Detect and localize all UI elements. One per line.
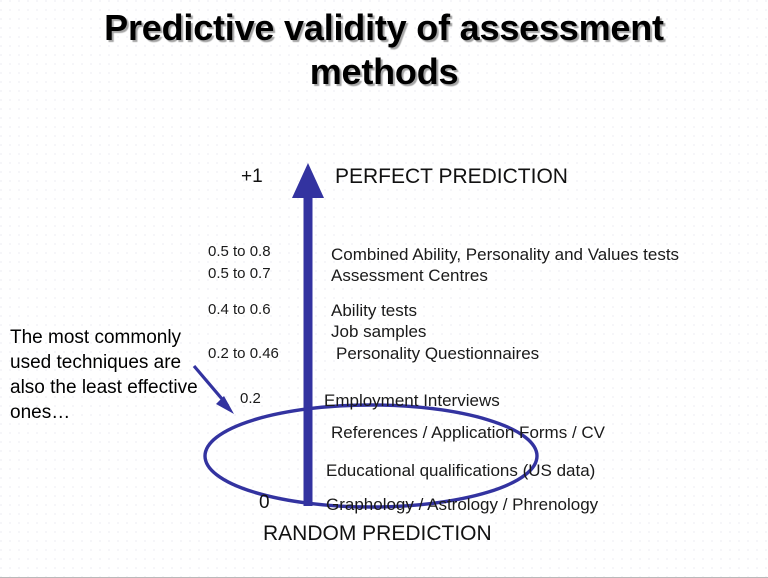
row-value-2: 0.4 to 0.6 (208, 301, 271, 319)
slide-canvas: Predictive validity of assessment method… (0, 0, 768, 578)
method-label-5: Employment Interviews (324, 391, 500, 411)
method-label-4: Personality Questionnaires (336, 344, 539, 364)
axis-top-caption: PERFECT PREDICTION (335, 165, 568, 189)
method-label-7: Educational qualifications (US data) (326, 461, 595, 481)
axis-top-value: +1 (241, 166, 263, 188)
method-label-2: Ability tests (331, 301, 417, 321)
highlight-ellipse (205, 405, 537, 507)
axis-bottom-value: 0 (259, 492, 270, 514)
method-label-3: Job samples (331, 322, 426, 342)
row-value-4: 0.2 to 0.46 (208, 345, 279, 363)
axis-arrow-icon (292, 163, 324, 506)
row-value-1: 0.5 to 0.7 (208, 265, 271, 283)
diagram-vector-layer (0, 0, 768, 578)
row-value-0: 0.5 to 0.8 (208, 243, 271, 261)
annotation-text: The most commonly used techniques are al… (10, 325, 215, 425)
method-label-0: Combined Ability, Personality and Values… (331, 245, 679, 265)
row-value-5: 0.2 (240, 390, 261, 408)
method-label-6: References / Application Forms / CV (331, 423, 605, 443)
axis-bottom-caption: RANDOM PREDICTION (263, 522, 492, 546)
method-label-8: Graphology / Astrology / Phrenology (326, 495, 598, 515)
method-label-1: Assessment Centres (331, 266, 488, 286)
